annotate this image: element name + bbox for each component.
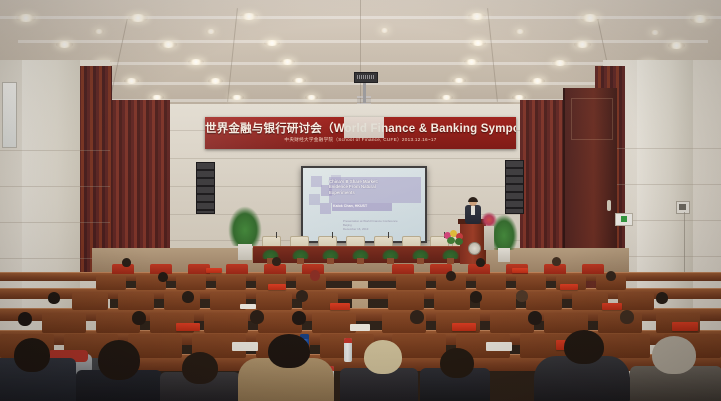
attendee-head bbox=[528, 311, 542, 325]
slide-decor-square bbox=[320, 203, 331, 214]
attendee-head bbox=[292, 311, 306, 325]
seat-back bbox=[72, 293, 108, 310]
attendee-head bbox=[652, 336, 696, 374]
floor-flower-stand bbox=[481, 212, 497, 252]
ceiling-downlight bbox=[690, 15, 710, 23]
seat-back bbox=[204, 313, 248, 333]
water-bottle bbox=[344, 338, 352, 362]
ceiling-downlight bbox=[305, 95, 318, 100]
attendee-head bbox=[656, 292, 668, 304]
attendee-head bbox=[440, 348, 474, 378]
ceiling-projector bbox=[354, 72, 378, 83]
ceiling-downlight bbox=[56, 41, 73, 48]
conference-folder bbox=[452, 323, 476, 331]
seat-back bbox=[476, 276, 506, 290]
conference-folder bbox=[672, 322, 698, 331]
attendee-head bbox=[250, 310, 264, 324]
ceiling-downlight bbox=[440, 95, 453, 100]
projector-mount-pole bbox=[363, 81, 366, 103]
line-array-speaker-left bbox=[196, 162, 215, 214]
slide-meta: Presentation at World Finance Conference… bbox=[343, 219, 417, 232]
seat-back bbox=[618, 293, 654, 310]
handout-papers bbox=[486, 342, 512, 351]
handout-papers bbox=[350, 324, 370, 331]
ceiling-downlight bbox=[530, 78, 545, 84]
slide-title-line-3: Experiments bbox=[329, 190, 417, 195]
attendee-head bbox=[132, 311, 146, 325]
attendee-head bbox=[182, 352, 218, 384]
speaker-cable bbox=[684, 212, 685, 278]
conference-folder bbox=[602, 303, 622, 310]
ceiling-downlight bbox=[552, 60, 568, 66]
attendee-head bbox=[446, 271, 456, 281]
ceiling-downlight bbox=[124, 78, 139, 84]
audience-seat bbox=[582, 264, 604, 274]
auditorium-photo: 世界金融与银行研讨会（World Finance & Banking Sympo… bbox=[0, 0, 721, 401]
ceiling-downlight bbox=[188, 59, 204, 65]
ceiling-downlight bbox=[650, 30, 660, 35]
line-array-speaker-right bbox=[505, 160, 524, 214]
attendee-head bbox=[14, 338, 50, 372]
conference-folder bbox=[560, 284, 578, 290]
seat-back bbox=[176, 276, 206, 290]
ceiling-downlight bbox=[580, 14, 600, 22]
audience-seat bbox=[226, 264, 248, 274]
table-microphone bbox=[276, 232, 277, 238]
ceiling-downlight bbox=[668, 42, 685, 49]
attendee-head bbox=[272, 257, 281, 266]
table-microphone bbox=[332, 232, 333, 238]
projection-screen: China's B Share Market: Evidence From Na… bbox=[303, 168, 425, 241]
seat-back bbox=[118, 293, 154, 310]
ceiling-downlight bbox=[230, 95, 244, 100]
stage-potted-plant bbox=[382, 249, 399, 264]
attendee-head bbox=[470, 291, 482, 303]
attendee-head bbox=[98, 340, 140, 380]
slide-decor-square bbox=[309, 194, 320, 205]
seat-back bbox=[216, 276, 246, 290]
side-window bbox=[2, 82, 17, 148]
table-microphone bbox=[388, 232, 389, 238]
stage-potted-plant bbox=[412, 249, 429, 264]
seat-back bbox=[256, 293, 292, 310]
attendee-head bbox=[182, 291, 194, 303]
attendee-head bbox=[410, 310, 424, 324]
conference-folder bbox=[268, 284, 286, 290]
exit-sign bbox=[615, 213, 633, 226]
ceiling-downlight bbox=[464, 59, 479, 65]
presenter bbox=[465, 198, 481, 224]
handout-papers bbox=[232, 342, 258, 351]
ceiling-downlight bbox=[574, 41, 591, 48]
slide-title: China's B Share Market: Evidence From Na… bbox=[329, 179, 417, 195]
stage-potted-plant bbox=[442, 249, 459, 264]
ceiling-downlight bbox=[470, 40, 486, 46]
wall-panel-seam bbox=[603, 184, 721, 185]
ceiling-downlight bbox=[160, 41, 177, 48]
projector-occlusion bbox=[344, 117, 384, 138]
seat-back bbox=[526, 293, 562, 310]
stage-potted-plant bbox=[352, 249, 369, 264]
ceiling-downlight bbox=[16, 14, 36, 22]
ceiling-downlight bbox=[94, 29, 104, 34]
attendee-head bbox=[310, 270, 320, 281]
seat-back bbox=[396, 276, 426, 290]
attendee-head bbox=[564, 330, 604, 364]
ceiling-band bbox=[42, 62, 682, 65]
event-banner: 世界金融与银行研讨会（World Finance & Banking Sympo… bbox=[205, 117, 516, 149]
ceiling-downlight bbox=[452, 78, 466, 83]
seat-back bbox=[480, 293, 516, 310]
seat-back bbox=[516, 276, 546, 290]
ceiling-downlight bbox=[468, 13, 486, 20]
university-emblem-icon bbox=[468, 242, 481, 255]
attendee-head bbox=[296, 290, 308, 302]
audience-seat bbox=[392, 264, 414, 274]
door-handle[interactable] bbox=[607, 200, 611, 211]
attendee-head bbox=[364, 340, 402, 374]
stage-palm-plant-left bbox=[228, 206, 262, 264]
ceiling-downlight bbox=[264, 40, 280, 46]
conference-folder bbox=[330, 303, 350, 310]
attendee-head bbox=[122, 258, 131, 267]
projector-vents bbox=[357, 75, 375, 79]
ceiling-seam bbox=[360, 0, 361, 104]
ceiling-downlight bbox=[515, 29, 525, 34]
stage-potted-plant bbox=[322, 249, 339, 264]
wall-panel-seam bbox=[0, 222, 110, 223]
attendee-head bbox=[606, 271, 616, 281]
ceiling-downlight bbox=[208, 78, 223, 84]
seat-back bbox=[388, 293, 424, 310]
door-panel bbox=[571, 98, 613, 140]
seat-back bbox=[96, 276, 126, 290]
attendee-head bbox=[552, 257, 561, 266]
side-curtain-left bbox=[78, 66, 112, 278]
ceiling-downlight bbox=[240, 13, 258, 20]
conference-folder bbox=[512, 268, 528, 273]
attendee-head bbox=[48, 292, 60, 304]
lectern-flowers bbox=[443, 229, 466, 245]
attendee-head bbox=[268, 334, 310, 368]
ceiling-downlight bbox=[280, 59, 295, 65]
ceiling-downlight bbox=[128, 14, 148, 22]
conference-folder bbox=[176, 323, 200, 331]
projection-screen-frame: China's B Share Market: Evidence From Na… bbox=[301, 166, 427, 243]
ceiling-downlight bbox=[380, 28, 389, 33]
attendee-head bbox=[476, 258, 485, 267]
slide-meta-line-3: December 16, 2013 bbox=[343, 227, 417, 231]
wall-panel-seam bbox=[0, 186, 110, 187]
seat-back bbox=[434, 293, 470, 310]
attendee-head bbox=[620, 310, 634, 324]
conference-folder bbox=[206, 268, 222, 273]
attendee-head bbox=[158, 272, 168, 282]
wall-speaker-icon bbox=[676, 201, 690, 214]
wall-panel-seam bbox=[0, 150, 110, 151]
attendee-head bbox=[516, 290, 528, 302]
ceiling-downlight bbox=[292, 78, 306, 83]
slide-author: Kalok Chan, HKUST bbox=[333, 204, 413, 208]
wall-panel-seam bbox=[603, 148, 721, 149]
stage-potted-plant bbox=[292, 249, 309, 264]
seat-back bbox=[596, 334, 650, 358]
handout-papers bbox=[240, 304, 256, 309]
attendee-head bbox=[18, 312, 32, 326]
seat-back bbox=[42, 313, 86, 333]
ceiling-downlight bbox=[206, 29, 216, 34]
